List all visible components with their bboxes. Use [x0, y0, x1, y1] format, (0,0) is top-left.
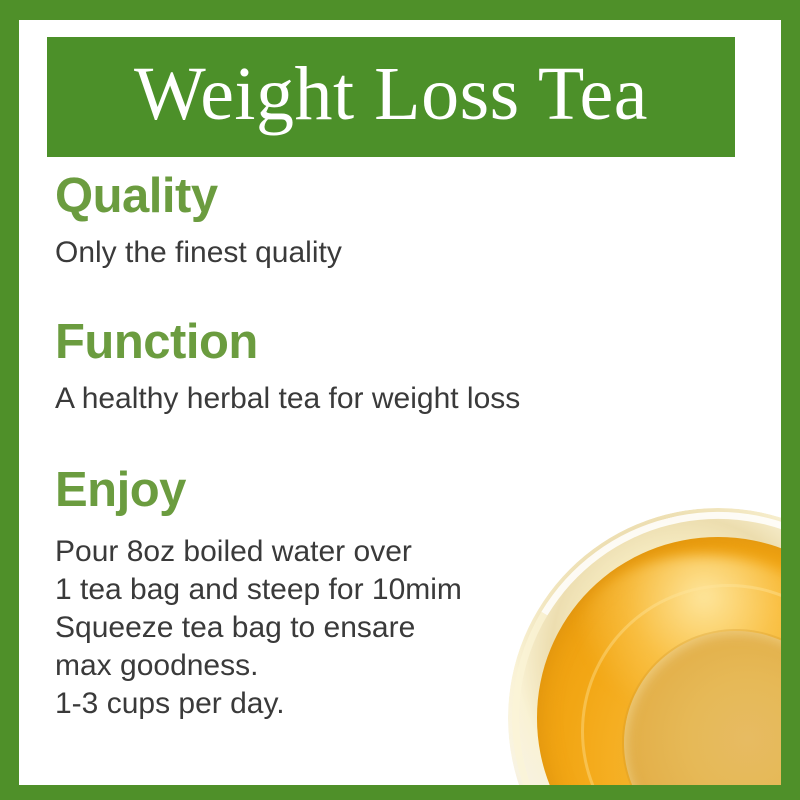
frame-border-bottom — [0, 785, 800, 800]
frame-border-right — [781, 0, 800, 800]
label-inner-page: Weight Loss Tea Quality Only the finest … — [19, 20, 781, 785]
section-quality: Quality Only the finest quality — [55, 172, 755, 272]
page-title: Weight Loss Tea — [134, 56, 648, 132]
section-body-enjoy: Pour 8oz boiled water over 1 tea bag and… — [55, 533, 755, 723]
weight-loss-tea-label: Weight Loss Tea Quality Only the finest … — [0, 0, 800, 800]
frame-border-left — [0, 0, 19, 800]
section-enjoy: Enjoy Pour 8oz boiled water over 1 tea b… — [55, 466, 755, 723]
sections-container: Quality Only the finest quality Function… — [55, 172, 755, 723]
frame-border-top — [0, 0, 800, 20]
section-body-quality: Only the finest quality — [55, 234, 755, 272]
section-heading-enjoy: Enjoy — [55, 466, 755, 515]
section-body-function: A healthy herbal tea for weight loss — [55, 380, 755, 418]
title-band: Weight Loss Tea — [47, 37, 735, 157]
section-heading-quality: Quality — [55, 172, 755, 221]
section-function: Function A healthy herbal tea for weight… — [55, 318, 755, 418]
section-heading-function: Function — [55, 318, 755, 367]
